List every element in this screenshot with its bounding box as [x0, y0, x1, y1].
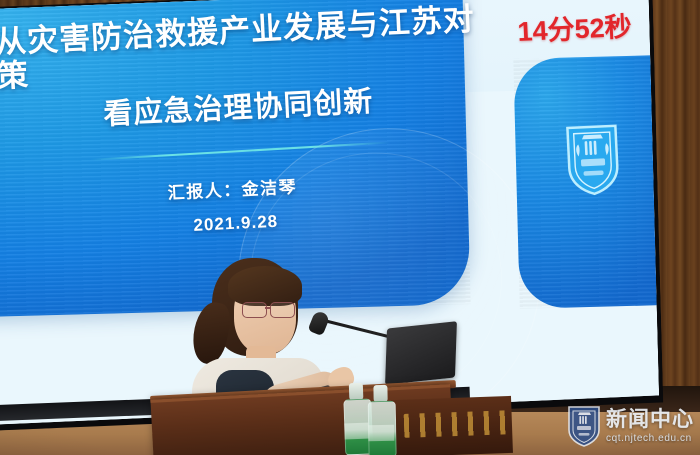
university-shield-emblem [563, 122, 622, 199]
watermark-url: cqt.njtech.edu.cn [606, 434, 694, 444]
njtech-shield-logo [567, 405, 601, 447]
presenter-ponytail [188, 299, 234, 367]
glasses-lens-right [270, 302, 295, 318]
watermark-text-block: 新闻中心 cqt.njtech.edu.cn [606, 409, 694, 444]
glasses-bridge [265, 307, 271, 309]
news-center-watermark: 新闻中心 cqt.njtech.edu.cn [567, 405, 694, 447]
countdown-timer: 14分52秒 [517, 5, 633, 49]
bottle-label [344, 423, 371, 440]
presentation-photo: 从灾害防治救援产业发展与江苏对策 看应急治理协同创新 汇报人：金洁琴 2021.… [0, 0, 700, 455]
desk-decorative-trim [404, 410, 513, 438]
glasses-lens-left [242, 302, 267, 318]
laptop-screen-right [385, 321, 457, 385]
presenter-glasses [242, 302, 298, 316]
water-bottle-2 [367, 385, 394, 455]
watermark-title: 新闻中心 [606, 409, 694, 430]
presenter-bangs [228, 266, 302, 306]
bottle-cap [349, 383, 364, 400]
bottle-label [368, 425, 394, 441]
bottle-cap [373, 385, 387, 402]
